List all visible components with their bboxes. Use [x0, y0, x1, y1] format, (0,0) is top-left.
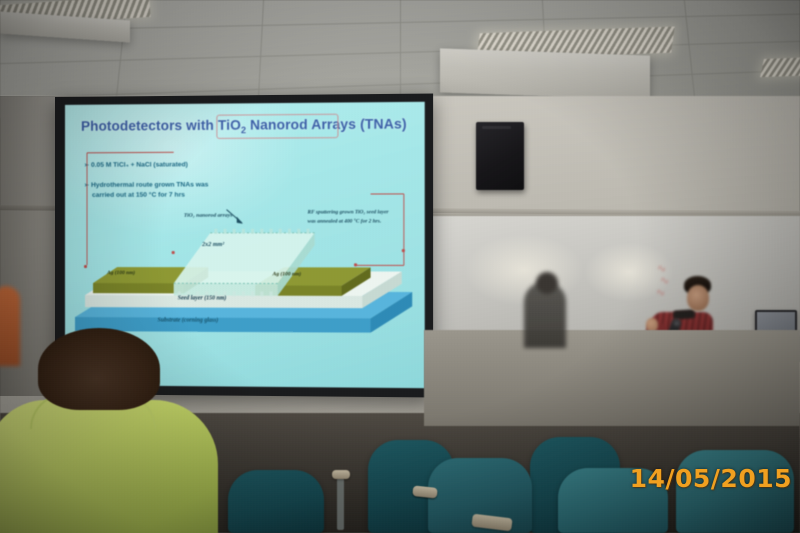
auditorium-seat[interactable] [228, 470, 324, 533]
leader-line-right [356, 194, 404, 266]
label-sputter-line2: was annealed at 400 °C for 2 hrs. [308, 218, 382, 224]
camera-datestamp: 14/05/2015 [630, 464, 792, 493]
label-substrate: Substrate (corning glass) [157, 317, 218, 323]
label-ag-left: Ag (100 nm) [107, 270, 135, 276]
wall-speaker [476, 122, 524, 190]
callout-dot [172, 251, 175, 254]
label-sputter-line1: RF sputtering grown TiO₂ seed layer [308, 209, 389, 215]
label-nanorod-arrays: TiO₂ nanorod arrays [184, 213, 233, 219]
label-seed-layer: Seed layer (150 nm) [178, 295, 227, 301]
lecture-hall-room: ∿ ∿ ∿ Photodetectors with TiO2 Nanorod A… [0, 0, 800, 533]
callout-dot [402, 249, 405, 252]
seat-support-post [337, 478, 344, 530]
seated-figure-head [536, 272, 558, 294]
presenter-head [687, 285, 709, 311]
seat-armrest [332, 470, 350, 479]
callout-dot [354, 263, 357, 266]
conference-photo: ∿ ∿ ∿ Photodetectors with TiO2 Nanorod A… [0, 0, 800, 533]
partial-person-left [0, 286, 20, 366]
leader-line-left [87, 152, 174, 265]
ceiling-light-fixture [760, 57, 800, 77]
label-device-area: 2x2 mm² [202, 242, 224, 248]
whiteboard [424, 214, 800, 336]
ceiling-soffit [440, 48, 650, 99]
audience-member-hair [38, 328, 160, 410]
callout-dot [84, 265, 87, 268]
label-ag-right: Ag (100 nm) [273, 271, 302, 277]
lower-wall [424, 330, 800, 426]
wall-marker-scribble: ∿ [655, 285, 666, 299]
